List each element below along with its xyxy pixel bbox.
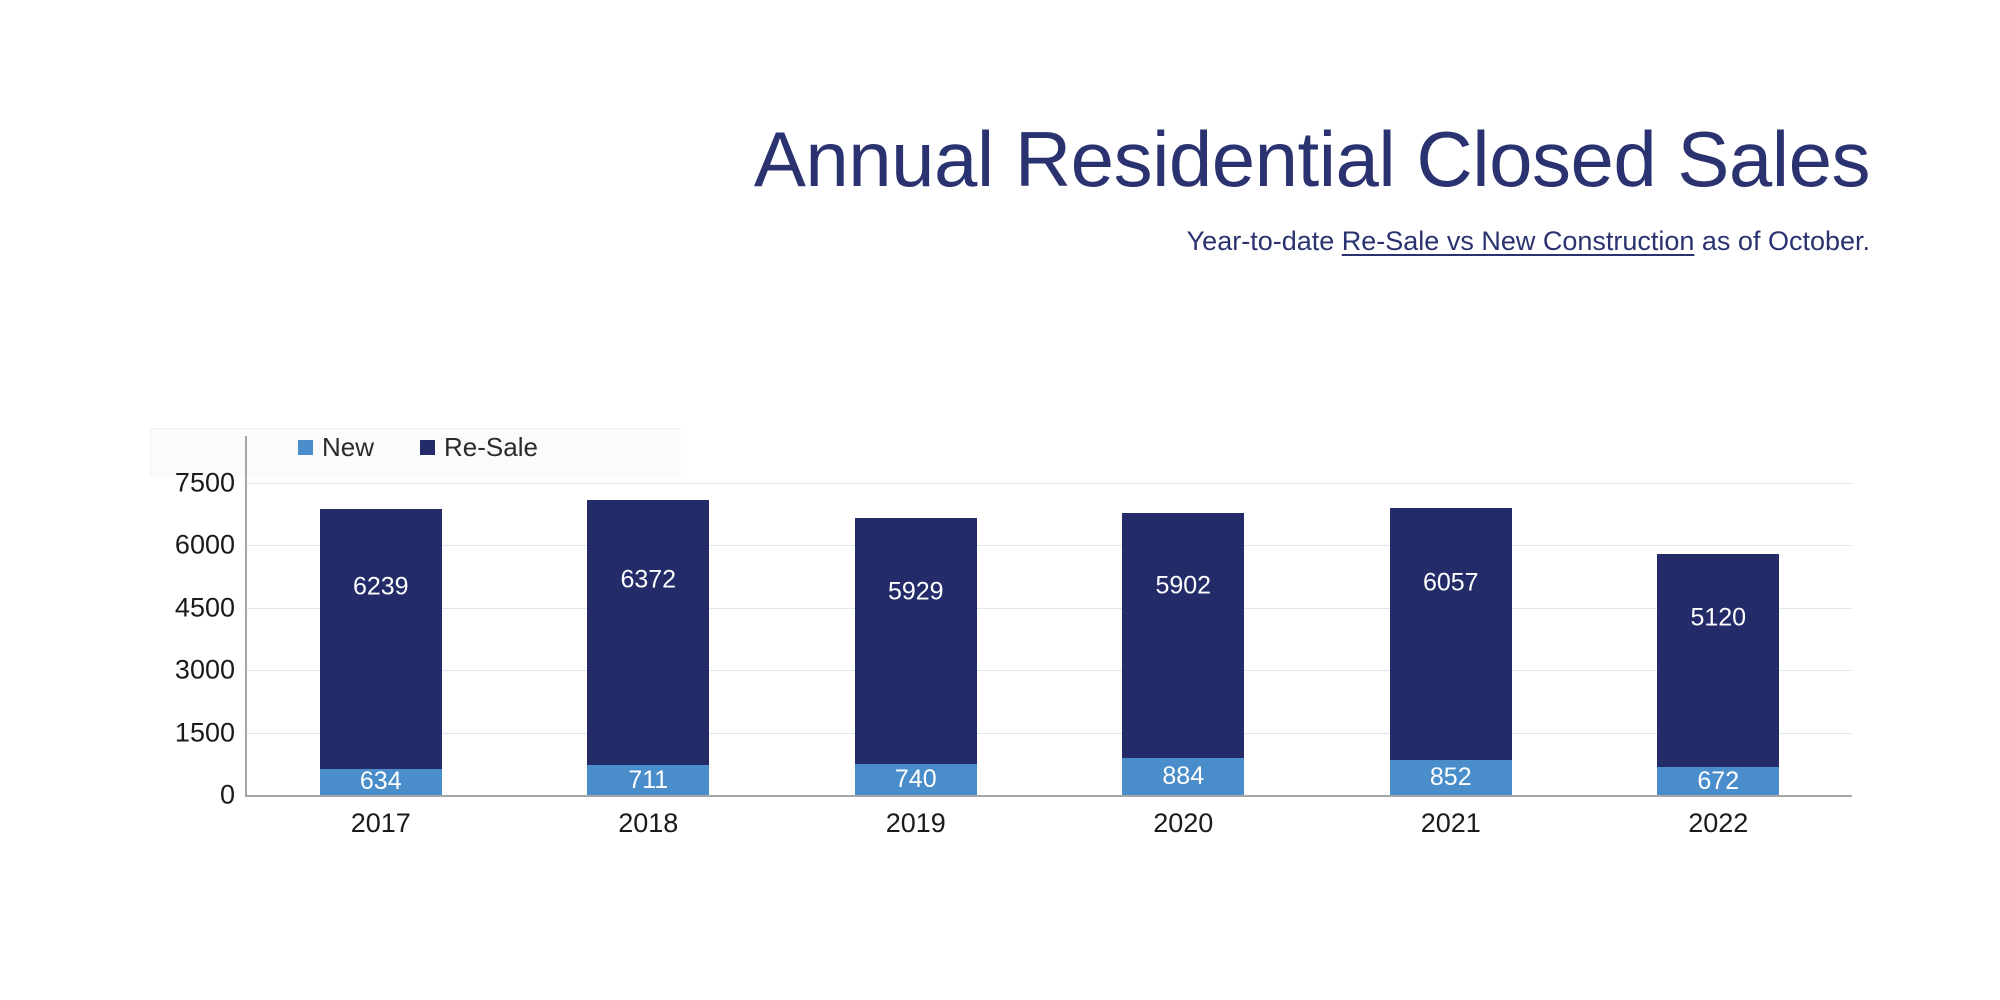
chart-legend: New Re-Sale (298, 434, 538, 460)
bar-segment-new[interactable]: 634 (320, 769, 442, 795)
bar-slot: 6239634 (247, 483, 515, 795)
bar-stack[interactable]: 5120672 (1657, 554, 1779, 795)
page-title: Annual Residential Closed Sales (0, 0, 1870, 198)
legend-label-resale: Re-Sale (444, 434, 538, 460)
bar-stack[interactable]: 6372711 (587, 500, 709, 795)
bar-segment-new[interactable]: 740 (855, 764, 977, 795)
bar-value-label-resale: 6372 (620, 567, 676, 592)
x-axis-tick-label: 2022 (1585, 808, 1853, 839)
bar-segment-resale[interactable]: 6057 (1390, 508, 1512, 760)
bar-value-label-resale: 5120 (1690, 605, 1746, 630)
bars-layer: 6239634637271159297405902884605785251206… (247, 483, 1852, 795)
bar-stack[interactable]: 6239634 (320, 509, 442, 795)
bar-segment-resale[interactable]: 6372 (587, 500, 709, 765)
bar-value-label-new: 740 (895, 767, 937, 792)
y-axis-tick-label: 6000 (175, 530, 235, 561)
bar-value-label-new: 852 (1430, 765, 1472, 790)
chart-subtitle: Year-to-date Re-Sale vs New Construction… (0, 198, 1870, 257)
bar-slot: 5902884 (1050, 483, 1318, 795)
x-axis-tick-label: 2019 (782, 808, 1050, 839)
bar-stack[interactable]: 5929740 (855, 518, 977, 795)
bar-value-label-new: 711 (628, 768, 668, 793)
subtitle-prefix: Year-to-date (1187, 226, 1342, 256)
bar-value-label-new: 672 (1697, 769, 1739, 794)
bar-value-label-resale: 6239 (353, 574, 409, 599)
y-axis-tick-label: 3000 (175, 655, 235, 686)
x-axis-tick-label: 2017 (247, 808, 515, 839)
bar-stack[interactable]: 6057852 (1390, 508, 1512, 795)
bar-chart: New Re-Sale 015003000450060007500 623963… (150, 428, 1870, 848)
legend-swatch-new-icon (298, 440, 313, 455)
x-axis-tick-label: 2021 (1317, 808, 1585, 839)
title-block: Annual Residential Closed Sales Year-to-… (0, 0, 1870, 257)
bar-value-label-new: 634 (360, 769, 402, 794)
y-axis-tick-label: 0 (220, 780, 235, 811)
bar-segment-new[interactable]: 852 (1390, 760, 1512, 795)
bar-value-label-resale: 5929 (888, 579, 944, 604)
legend-item-new[interactable]: New (298, 434, 374, 460)
bar-value-label-resale: 6057 (1423, 571, 1479, 596)
legend-swatch-resale-icon (420, 440, 435, 455)
subtitle-suffix: as of October. (1694, 226, 1870, 256)
y-axis-tick-label: 4500 (175, 592, 235, 623)
y-axis-labels: 015003000450060007500 (140, 483, 235, 795)
bar-slot: 5120672 (1585, 483, 1853, 795)
bar-segment-resale[interactable]: 5902 (1122, 513, 1244, 759)
legend-label-new: New (322, 434, 374, 460)
bar-slot: 6057852 (1317, 483, 1585, 795)
bar-value-label-new: 884 (1162, 764, 1204, 789)
bar-segment-resale[interactable]: 5120 (1657, 554, 1779, 767)
bar-segment-new[interactable]: 884 (1122, 758, 1244, 795)
subtitle-underlined-phrase: Re-Sale vs New Construction (1342, 226, 1695, 256)
bar-segment-new[interactable]: 672 (1657, 767, 1779, 795)
bar-value-label-resale: 5902 (1155, 574, 1211, 599)
x-axis-tick-label: 2020 (1050, 808, 1318, 839)
bar-slot: 6372711 (515, 483, 783, 795)
bar-stack[interactable]: 5902884 (1122, 513, 1244, 795)
legend-item-resale[interactable]: Re-Sale (420, 434, 538, 460)
x-axis-labels: 201720182019202020212022 (247, 808, 1852, 839)
x-axis-baseline (245, 795, 1852, 797)
bar-segment-resale[interactable]: 6239 (320, 509, 442, 769)
x-axis-tick-label: 2018 (515, 808, 783, 839)
y-axis-tick-label: 1500 (175, 717, 235, 748)
bar-segment-resale[interactable]: 5929 (855, 518, 977, 765)
bar-segment-new[interactable]: 711 (587, 765, 709, 795)
y-axis-tick-label: 7500 (175, 468, 235, 499)
bar-slot: 5929740 (782, 483, 1050, 795)
